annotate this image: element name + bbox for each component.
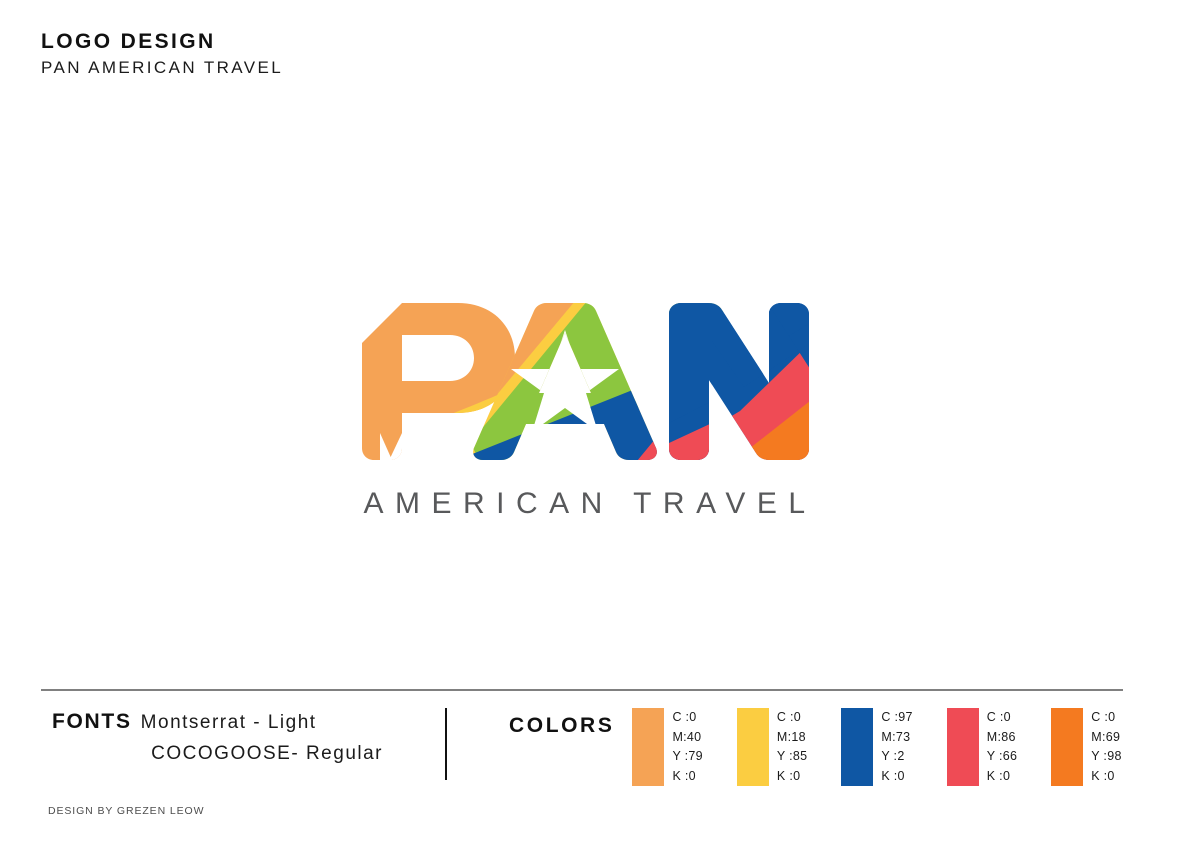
cmyk-m: M:18 <box>777 728 807 748</box>
footer-specs: FONTS Montserrat - Light COCOGOOSE- Regu… <box>0 700 1191 810</box>
fonts-label: FONTS <box>52 710 132 734</box>
logo-wordmark: AMERICAN TRAVEL <box>340 487 830 521</box>
fonts-primary-value: Montserrat - Light <box>141 712 317 734</box>
cmyk-m: M:86 <box>987 728 1017 748</box>
color-swatch-item: C :0 M:69 Y :98 K :0 <box>1051 708 1121 786</box>
page-subtitle: PAN AMERICAN TRAVEL <box>41 57 283 80</box>
vertical-divider <box>445 708 447 780</box>
logo-lockup: AMERICAN TRAVEL <box>340 283 830 521</box>
section-divider-rule <box>41 689 1123 691</box>
color-swatch-item: C :0 M:86 Y :66 K :0 <box>947 708 1017 786</box>
color-chip <box>841 708 873 786</box>
color-cmyk-values: C :0 M:40 Y :79 K :0 <box>672 708 702 786</box>
cmyk-y: Y :66 <box>987 747 1017 767</box>
color-cmyk-values: C :0 M:18 Y :85 K :0 <box>777 708 807 786</box>
color-swatch-item: C :97 M:73 Y :2 K :0 <box>841 708 912 786</box>
cmyk-c: C :0 <box>987 708 1017 728</box>
color-chip <box>947 708 979 786</box>
cmyk-m: M:40 <box>672 728 702 748</box>
color-cmyk-values: C :0 M:69 Y :98 K :0 <box>1091 708 1121 786</box>
cmyk-m: M:73 <box>881 728 912 748</box>
color-chip <box>737 708 769 786</box>
colors-label: COLORS <box>509 714 614 738</box>
color-cmyk-values: C :0 M:86 Y :66 K :0 <box>987 708 1017 786</box>
pan-logo-mark <box>340 283 810 478</box>
page-header: LOGO DESIGN PAN AMERICAN TRAVEL <box>41 30 283 80</box>
color-swatch-item: C :0 M:40 Y :79 K :0 <box>632 708 702 786</box>
cmyk-k: K :0 <box>987 767 1017 787</box>
cmyk-m: M:69 <box>1091 728 1121 748</box>
cmyk-y: Y :98 <box>1091 747 1121 767</box>
cmyk-y: Y :79 <box>672 747 702 767</box>
cmyk-k: K :0 <box>777 767 807 787</box>
page-title: LOGO DESIGN <box>41 30 283 54</box>
cmyk-k: K :0 <box>881 767 912 787</box>
cmyk-c: C :0 <box>777 708 807 728</box>
color-cmyk-values: C :97 M:73 Y :2 K :0 <box>881 708 912 786</box>
cmyk-y: Y :2 <box>881 747 912 767</box>
fonts-section: FONTS Montserrat - Light COCOGOOSE- Regu… <box>41 710 441 765</box>
fonts-secondary-value: COCOGOOSE- Regular <box>151 743 383 765</box>
color-chip <box>632 708 664 786</box>
cmyk-k: K :0 <box>1091 767 1121 787</box>
cmyk-y: Y :85 <box>777 747 807 767</box>
color-chip <box>1051 708 1083 786</box>
designer-credit: DESIGN BY GREZEN LEOW <box>48 805 204 817</box>
cmyk-c: C :97 <box>881 708 912 728</box>
cmyk-c: C :0 <box>672 708 702 728</box>
cmyk-k: K :0 <box>672 767 702 787</box>
colors-section: COLORS C :0 M:40 Y :79 K :0 C :0 M:18 Y … <box>509 708 1122 786</box>
color-swatch-list: C :0 M:40 Y :79 K :0 C :0 M:18 Y :85 K :… <box>632 708 1121 786</box>
cmyk-c: C :0 <box>1091 708 1121 728</box>
color-swatch-item: C :0 M:18 Y :85 K :0 <box>737 708 807 786</box>
